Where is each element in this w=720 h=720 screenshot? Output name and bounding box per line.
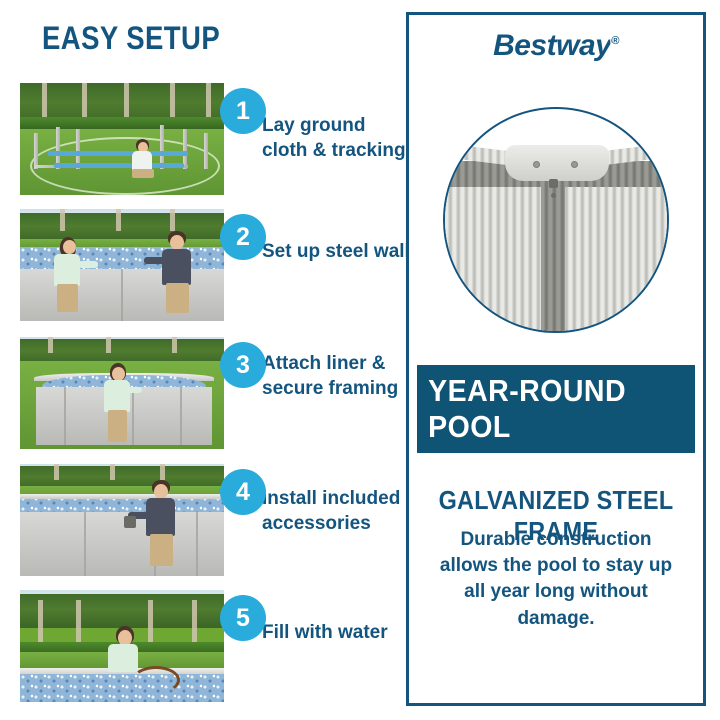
- step-item-5: 5 Fill with water: [20, 590, 380, 702]
- bestway-logo: Bestway®: [409, 29, 703, 63]
- product-panel: Bestway® YEAR-ROUND POOL GALVANIZED STEE…: [406, 12, 706, 706]
- step-label-4: Install included accessories: [262, 486, 412, 537]
- step-label-5: Fill with water: [262, 620, 412, 645]
- step-item-3: 3 Attach liner & secure framing: [20, 337, 380, 449]
- frame-detail-image: [443, 107, 669, 333]
- step-badge-3: 3: [220, 342, 266, 388]
- step-photo-3: [20, 337, 224, 449]
- feature-description: Durable construction allows the pool to …: [431, 527, 681, 632]
- step-item-1: 1 Lay ground cloth & tracking: [20, 83, 380, 195]
- step-photo-1: [20, 83, 224, 195]
- step-photo-5: [20, 590, 224, 702]
- brand-name: Bestway: [493, 29, 611, 62]
- band-title: YEAR-ROUND POOL: [428, 373, 684, 445]
- step-badge-1: 1: [220, 88, 266, 134]
- step-photo-2: [20, 209, 224, 321]
- step-item-4: 4 Install included accessories: [20, 464, 380, 576]
- step-item-2: 2 Set up steel wall: [20, 209, 380, 321]
- step-photo-4: [20, 464, 224, 576]
- infographic-page: EASY SETUP: [0, 0, 720, 720]
- step-badge-2: 2: [220, 214, 266, 260]
- registered-mark-icon: ®: [611, 35, 619, 47]
- step-badge-4: 4: [220, 469, 266, 515]
- easy-setup-column: EASY SETUP: [0, 0, 398, 720]
- page-title: EASY SETUP: [42, 20, 220, 57]
- step-label-3: Attach liner & secure framing: [262, 351, 412, 402]
- year-round-band: YEAR-ROUND POOL: [417, 365, 695, 453]
- step-badge-5: 5: [220, 595, 266, 641]
- step-label-2: Set up steel wall: [262, 239, 412, 264]
- step-label-1: Lay ground cloth & tracking: [262, 113, 412, 164]
